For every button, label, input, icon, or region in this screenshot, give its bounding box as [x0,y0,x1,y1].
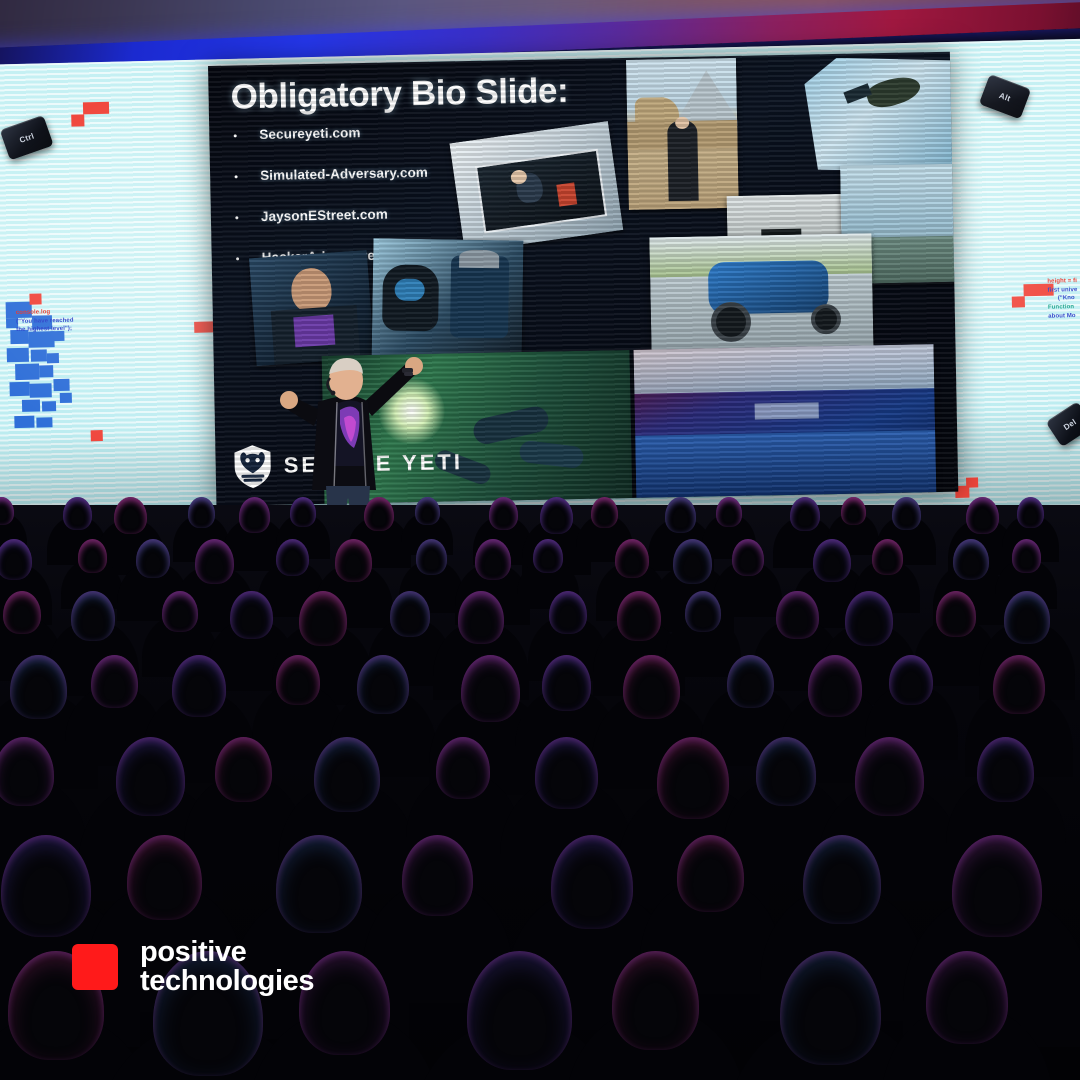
audience-head [0,539,32,580]
bullet-label: JaysonEStreet.com [261,207,388,224]
audience-head [926,951,1008,1044]
audience-head [276,655,320,705]
brand-wordmark: positive technologies [140,938,314,996]
pixel-block [32,315,52,329]
keycap-del: Del [1046,401,1080,447]
audience-head [188,497,215,528]
bullet-marker: • [235,212,261,224]
bullet-label: Secureyeti.com [259,125,360,142]
audience-head [665,497,696,533]
audience-head [732,539,765,576]
keycap-label: Alt [998,90,1012,103]
pixel-block [42,401,56,411]
audience-head [1,835,91,937]
brand-line-2: technologies [140,967,314,996]
brand-line-1: positive [140,938,314,967]
code-snippet-right: height = fi first unive ("Kno Function a… [1047,275,1080,321]
keycap-alt: Alt [979,74,1031,119]
audience-head [776,591,818,639]
audience-head [467,951,572,1070]
pixel-block [6,318,18,328]
audience-head [612,951,699,1050]
pixel-block [6,302,32,319]
audience-head [436,737,490,799]
audience-head [458,591,504,644]
pixel-block [60,393,72,403]
audience-head [299,591,347,646]
audience-head [533,539,563,573]
audience-head [892,497,921,530]
audience-head [542,655,591,711]
audience-head [136,539,170,578]
audience-head [276,539,309,576]
audience-head [677,835,744,912]
audience-head [889,655,933,705]
audience-head [114,497,147,534]
audience-head [390,591,430,637]
conference-scene: console.log ("You have reached the highe… [0,0,1080,1080]
audience-head [10,655,67,719]
slide-bullet: •JaysonEStreet.com [235,205,495,225]
audience-head [780,951,880,1065]
pixel-block [31,349,47,361]
bullet-label: Simulated-Adversary.com [260,165,428,183]
audience-head [78,539,108,573]
pixel-block [39,365,53,377]
audience-head [127,835,202,920]
audience-head [357,655,409,714]
audience-head [1012,539,1042,573]
photo-game-night [634,344,937,498]
code-line: height = fi [1047,275,1080,286]
accent-square [71,114,84,126]
positive-technologies-logo: positive technologies [72,938,314,996]
audience-head [993,655,1045,714]
accent-square [1012,296,1025,307]
pixel-block [9,382,29,396]
audience-head [535,737,598,809]
pixel-block [53,379,69,391]
audience-head [116,737,185,816]
audience-head [314,737,380,812]
audience-head [716,497,742,527]
accent-square [1023,284,1053,297]
pixel-block [7,348,29,363]
audience-head [813,539,851,582]
audience-head [63,497,92,530]
audience-head [290,497,316,527]
audience-head [335,539,373,582]
audience-head [872,539,903,575]
audience-head [162,591,198,632]
accent-square [966,477,978,487]
bullet-marker: • [234,171,260,183]
accent-square [83,102,109,115]
audience-head [1017,497,1044,528]
audience-head [727,655,774,708]
keycap-label: Ctrl [18,131,35,144]
pixel-block [50,331,64,341]
photo-blue-trike [649,233,873,355]
audience-head [3,591,41,634]
audience-head [91,655,138,708]
pixel-block [36,417,52,427]
audience-head [617,591,661,641]
pixel-block [28,331,54,348]
audience-head [549,591,587,634]
brand-square-icon [72,944,118,990]
code-line: first unive [1048,284,1080,295]
audience-head [239,497,270,533]
audience-head [489,497,518,530]
audience-head [195,539,234,584]
code-line: the highest level"); [16,324,126,335]
audience-head [402,835,473,916]
audience-head [276,835,362,933]
audience-head [657,737,729,819]
accent-square [29,293,41,304]
photo-skydiving [804,56,954,175]
audience-head [615,539,649,578]
pixel-block [30,383,52,398]
slide-bullet: •Secureyeti.com [233,123,493,143]
audience-head [685,591,721,632]
audience-head [673,539,712,584]
code-line: Function [1048,301,1080,312]
code-line: about Mo [1048,310,1080,321]
audience-head [966,497,999,534]
code-line: ("You have reached [16,315,126,326]
audience-head [623,655,680,719]
audience-head [953,539,989,580]
code-line: console.log [16,306,126,317]
audience-head [415,497,440,525]
audience-head [215,737,272,802]
accent-square [91,430,103,441]
keycap-ctrl: Ctrl [0,115,54,160]
slide-title: Obligatory Bio Slide: [230,71,568,117]
audience-head [364,497,394,531]
code-snippet-left: console.log ("You have reached the highe… [16,306,127,335]
speaker-figure [258,340,448,520]
pixel-block [14,416,34,428]
photo-podcast-studio [449,121,623,252]
pixel-block-decoration [6,299,135,442]
pixel-block [22,400,40,412]
audience-head [977,737,1034,802]
pixel-block [47,353,59,363]
bullet-marker: • [233,130,259,142]
audience-head [475,539,511,580]
audience-head [591,497,618,528]
photo-pyramids-sphinx [626,58,739,210]
audience-head [855,737,924,816]
pixel-block [10,330,28,344]
audience-head [71,591,115,641]
audience-head [461,655,520,722]
audience-head [952,835,1042,937]
audience-head [230,591,272,639]
audience-head [756,737,816,806]
audience-head [841,497,866,525]
audience-head [936,591,976,637]
audience-head [416,539,447,575]
code-line: ("Kno [1048,293,1080,304]
audience-head [808,655,862,717]
audience-head [172,655,226,717]
audience-head [845,591,893,646]
pixel-block [15,364,39,381]
audience-head [1004,591,1050,644]
keycap-label: Del [1062,417,1078,432]
audience-head [540,497,573,534]
audience-head [790,497,820,531]
